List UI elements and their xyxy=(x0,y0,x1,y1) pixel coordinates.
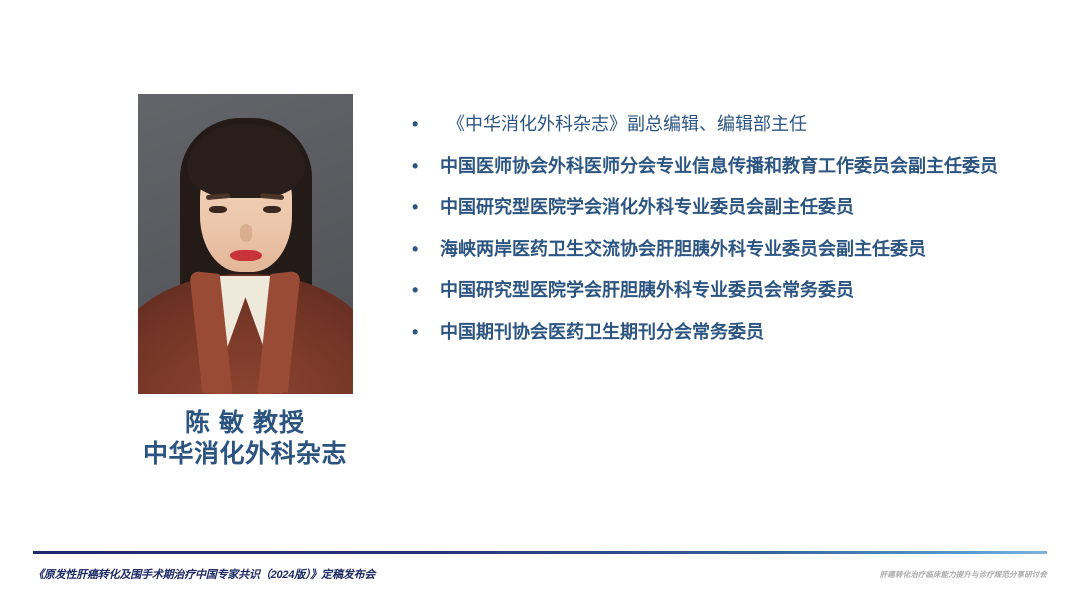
slide-root: 陈 敏 教授 中华消化外科杂志 • 《中华消化外科杂志》副总编辑、编辑部主任 •… xyxy=(0,0,1080,608)
photo-nose xyxy=(240,224,252,242)
bullet-dot-icon: • xyxy=(412,195,440,219)
list-item-label: 中国研究型医院学会消化外科专业委员会副主任委员 xyxy=(440,195,1080,219)
list-item-label: 中国医师协会外科医师分会专业信息传播和教育工作委员会副主任委员 xyxy=(440,154,1080,178)
list-item: • 《中华消化外科杂志》副总编辑、编辑部主任 xyxy=(412,112,1080,154)
speaker-caption: 陈 敏 教授 中华消化外科杂志 xyxy=(100,408,390,470)
photo-lips xyxy=(230,250,262,261)
bullet-dot-icon: • xyxy=(412,278,440,302)
list-item-label: 《中华消化外科杂志》副总编辑、编辑部主任 xyxy=(440,112,1080,136)
speaker-name: 陈 敏 教授 xyxy=(100,408,390,439)
bullet-dot-icon: • xyxy=(412,237,440,261)
bullet-dot-icon: • xyxy=(412,154,440,178)
footer-event-title: 《原发性肝癌转化及围手术期治疗中国专家共识（2024版）》定稿发布会 xyxy=(33,566,375,582)
speaker-organization: 中华消化外科杂志 xyxy=(100,439,390,470)
list-item: • 中国期刊协会医药卫生期刊分会常务委员 xyxy=(412,320,1080,362)
bullet-dot-icon: • xyxy=(412,112,440,136)
list-item: • 中国研究型医院学会肝胆胰外科专业委员会常务委员 xyxy=(412,278,1080,320)
bullet-dot-icon: • xyxy=(412,320,440,344)
footer-subtitle: 肝癌转化治疗临床能力提升与诊疗规范分享研讨会 xyxy=(880,569,1047,580)
photo-hair-front xyxy=(187,124,305,198)
photo-eye-right xyxy=(263,206,281,213)
list-item-label: 中国期刊协会医药卫生期刊分会常务委员 xyxy=(440,320,1080,344)
list-item: • 中国研究型医院学会消化外科专业委员会副主任委员 xyxy=(412,195,1080,237)
speaker-photo xyxy=(138,94,353,394)
list-item-label: 海峡两岸医药卫生交流协会肝胆胰外科专业委员会副主任委员 xyxy=(440,237,1080,261)
list-item: • 海峡两岸医药卫生交流协会肝胆胰外科专业委员会副主任委员 xyxy=(412,237,1080,279)
footer-divider xyxy=(33,551,1047,554)
credentials-list: • 《中华消化外科杂志》副总编辑、编辑部主任 • 中国医师协会外科医师分会专业信… xyxy=(412,112,1080,361)
list-item: • 中国医师协会外科医师分会专业信息传播和教育工作委员会副主任委员 xyxy=(412,154,1080,196)
photo-eye-left xyxy=(209,206,227,213)
list-item-label: 中国研究型医院学会肝胆胰外科专业委员会常务委员 xyxy=(440,278,1080,302)
